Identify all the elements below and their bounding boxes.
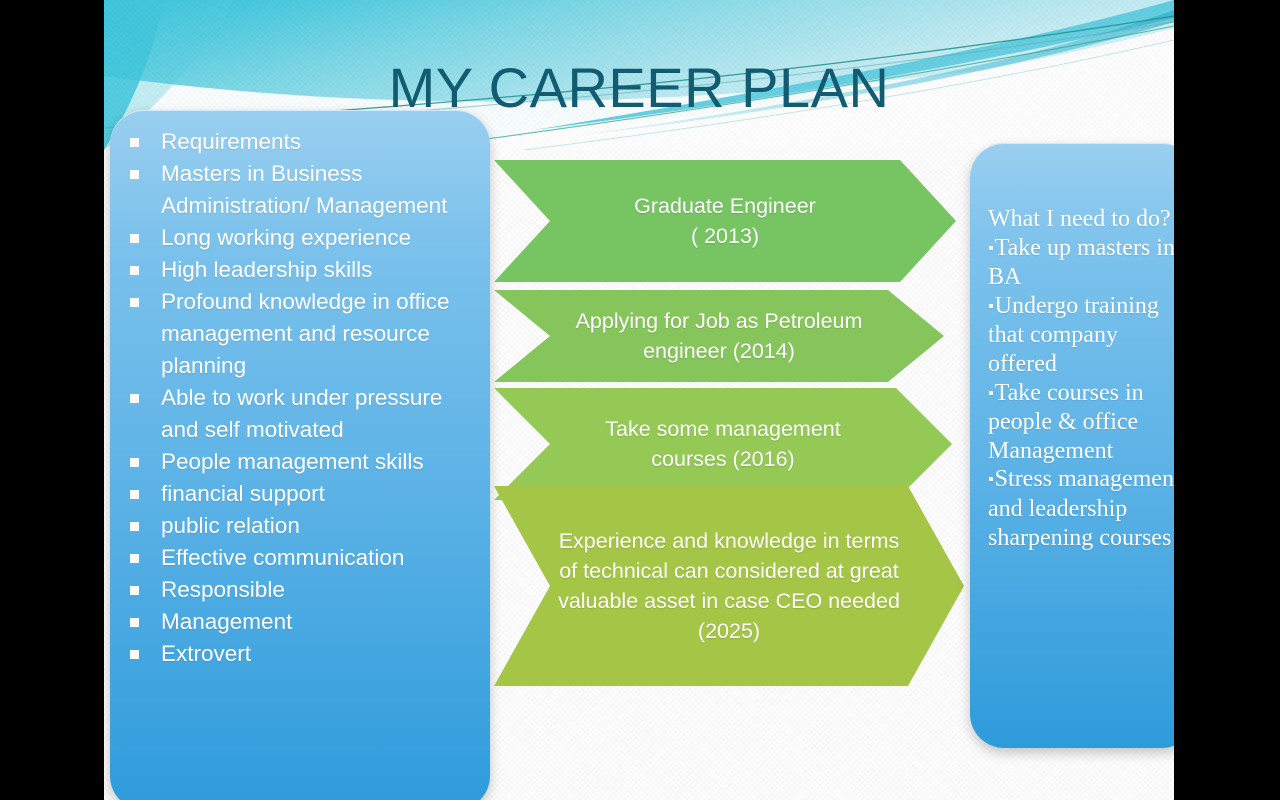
square-bullet-icon — [130, 490, 139, 499]
career-timeline: Graduate Engineer ( 2013) Applying for J… — [494, 160, 964, 700]
list-item: Requirements — [130, 126, 476, 158]
list-item: Able to work under pressure and self mot… — [130, 382, 476, 446]
square-bullet-icon — [130, 522, 139, 531]
list-item-label: Long working experience — [161, 222, 476, 254]
list-item: Masters in Business Administration/ Mana… — [130, 158, 476, 222]
timeline-step-experience-ceo[interactable]: Experience and knowledge in terms of tec… — [494, 486, 964, 686]
list-item-label: Requirements — [161, 126, 476, 158]
list-item-label: Extrovert — [161, 638, 476, 670]
list-item-label: People management skills — [161, 446, 476, 478]
list-item-label: Effective communication — [161, 542, 476, 574]
presentation-slide: MY CAREER PLAN Requirements Masters in B… — [104, 0, 1174, 800]
requirements-list: Requirements Masters in Business Adminis… — [130, 126, 476, 670]
list-item: Undergo training that company offered — [988, 292, 1174, 379]
slide-viewport: MY CAREER PLAN Requirements Masters in B… — [0, 0, 1280, 800]
list-item: Take up masters in BA — [988, 234, 1174, 292]
list-item: financial support — [130, 478, 476, 510]
list-item: Management — [130, 606, 476, 638]
list-item: Long working experience — [130, 222, 476, 254]
list-item-label: Able to work under pressure and self mot… — [161, 382, 476, 446]
list-item: Extrovert — [130, 638, 476, 670]
timeline-step-label: Experience and knowledge in terms of tec… — [556, 526, 902, 646]
list-item: Effective communication — [130, 542, 476, 574]
letterbox-right — [1174, 0, 1280, 800]
list-item-label: financial support — [161, 478, 476, 510]
list-item-label: Responsible — [161, 574, 476, 606]
square-bullet-icon — [130, 618, 139, 627]
what-i-need-to-do-panel[interactable]: What I need to do? Take up masters in BA… — [970, 143, 1174, 748]
square-bullet-icon — [130, 298, 139, 307]
list-item: public relation — [130, 510, 476, 542]
square-bullet-icon — [130, 458, 139, 467]
list-item: Take courses in people & office Manageme… — [988, 379, 1174, 466]
list-item: Profound knowledge in office management … — [130, 286, 476, 382]
list-item-label: Profound knowledge in office management … — [161, 286, 476, 382]
timeline-step-label: Take some management courses (2016) — [605, 414, 840, 474]
list-item-label: Management — [161, 606, 476, 638]
list-item: People management skills — [130, 446, 476, 478]
square-bullet-icon — [130, 138, 139, 147]
square-bullet-icon — [130, 266, 139, 275]
panel-heading: What I need to do? — [988, 205, 1174, 234]
timeline-step-applying-for-job[interactable]: Applying for Job as Petroleum engineer (… — [494, 290, 944, 382]
list-item-label: High leadership skills — [161, 254, 476, 286]
timeline-step-label: Graduate Engineer ( 2013) — [634, 191, 816, 251]
timeline-step-management-courses[interactable]: Take some management courses (2016) — [494, 388, 952, 500]
list-item-label: public relation — [161, 510, 476, 542]
square-bullet-icon — [130, 234, 139, 243]
list-item-label: Masters in Business Administration/ Mana… — [161, 158, 476, 222]
square-bullet-icon — [130, 170, 139, 179]
square-bullet-icon — [130, 586, 139, 595]
timeline-step-label: Applying for Job as Petroleum engineer (… — [576, 306, 863, 366]
square-bullet-icon — [130, 650, 139, 659]
square-bullet-icon — [130, 394, 139, 403]
timeline-step-graduate-engineer[interactable]: Graduate Engineer ( 2013) — [494, 160, 956, 282]
list-item: High leadership skills — [130, 254, 476, 286]
square-bullet-icon — [130, 554, 139, 563]
letterbox-left — [0, 0, 104, 800]
list-item: Stress management and leadership sharpen… — [988, 465, 1174, 552]
list-item: Responsible — [130, 574, 476, 606]
requirements-panel[interactable]: Requirements Masters in Business Adminis… — [110, 110, 490, 800]
what-i-need-to-do-list: What I need to do? Take up masters in BA… — [988, 205, 1174, 552]
